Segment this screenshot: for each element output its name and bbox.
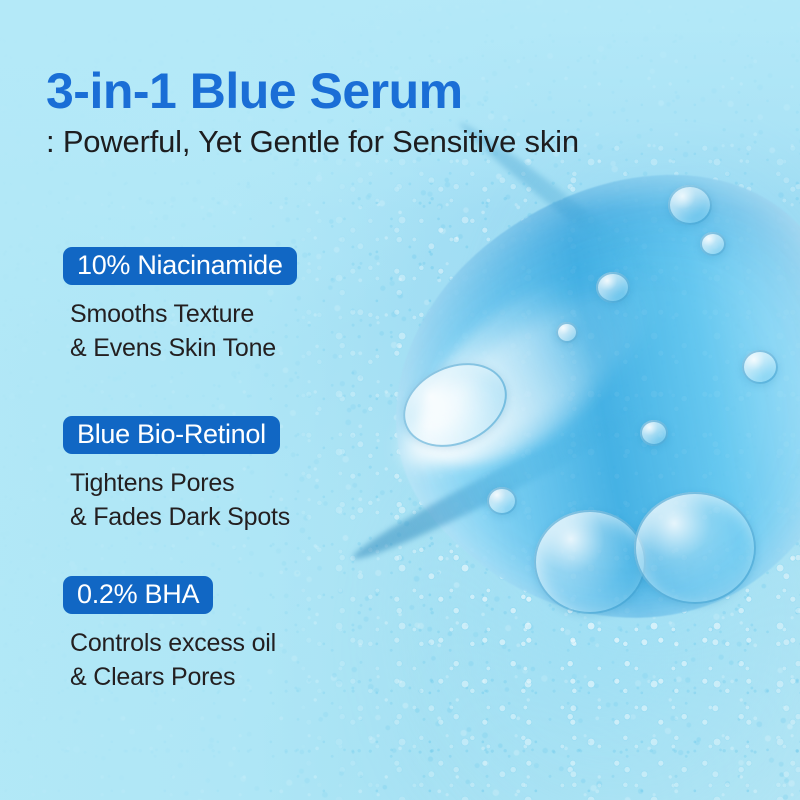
feature-badge-blue-bio-retinol: Blue Bio-Retinol: [63, 416, 280, 454]
feature-blue-bio-retinol: Blue Bio-Retinol Tightens Pores & Fades …: [63, 416, 290, 534]
feature-description-line: Controls excess oil: [70, 627, 276, 660]
feature-bha: 0.2% BHA Controls excess oil & Clears Po…: [63, 576, 276, 694]
feature-description-line: Smooths Texture: [70, 298, 297, 331]
feature-badge-bha: 0.2% BHA: [63, 576, 213, 614]
feature-description-niacinamide: Smooths Texture & Evens Skin Tone: [70, 298, 297, 365]
feature-description-line: & Fades Dark Spots: [70, 501, 290, 534]
page-subtitle: : Powerful, Yet Gentle for Sensitive ski…: [46, 124, 579, 160]
feature-badge-niacinamide: 10% Niacinamide: [63, 247, 297, 285]
feature-description-line: Tightens Pores: [70, 467, 290, 500]
feature-description-blue-bio-retinol: Tightens Pores & Fades Dark Spots: [70, 467, 290, 534]
page-title: 3-in-1 Blue Serum: [46, 62, 463, 120]
product-poster: 3-in-1 Blue Serum : Powerful, Yet Gentle…: [0, 0, 800, 800]
feature-description-bha: Controls excess oil & Clears Pores: [70, 627, 276, 694]
feature-description-line: & Evens Skin Tone: [70, 332, 297, 365]
feature-niacinamide: 10% Niacinamide Smooths Texture & Evens …: [63, 247, 297, 365]
feature-description-line: & Clears Pores: [70, 661, 276, 694]
poster-content: 3-in-1 Blue Serum : Powerful, Yet Gentle…: [0, 0, 800, 800]
